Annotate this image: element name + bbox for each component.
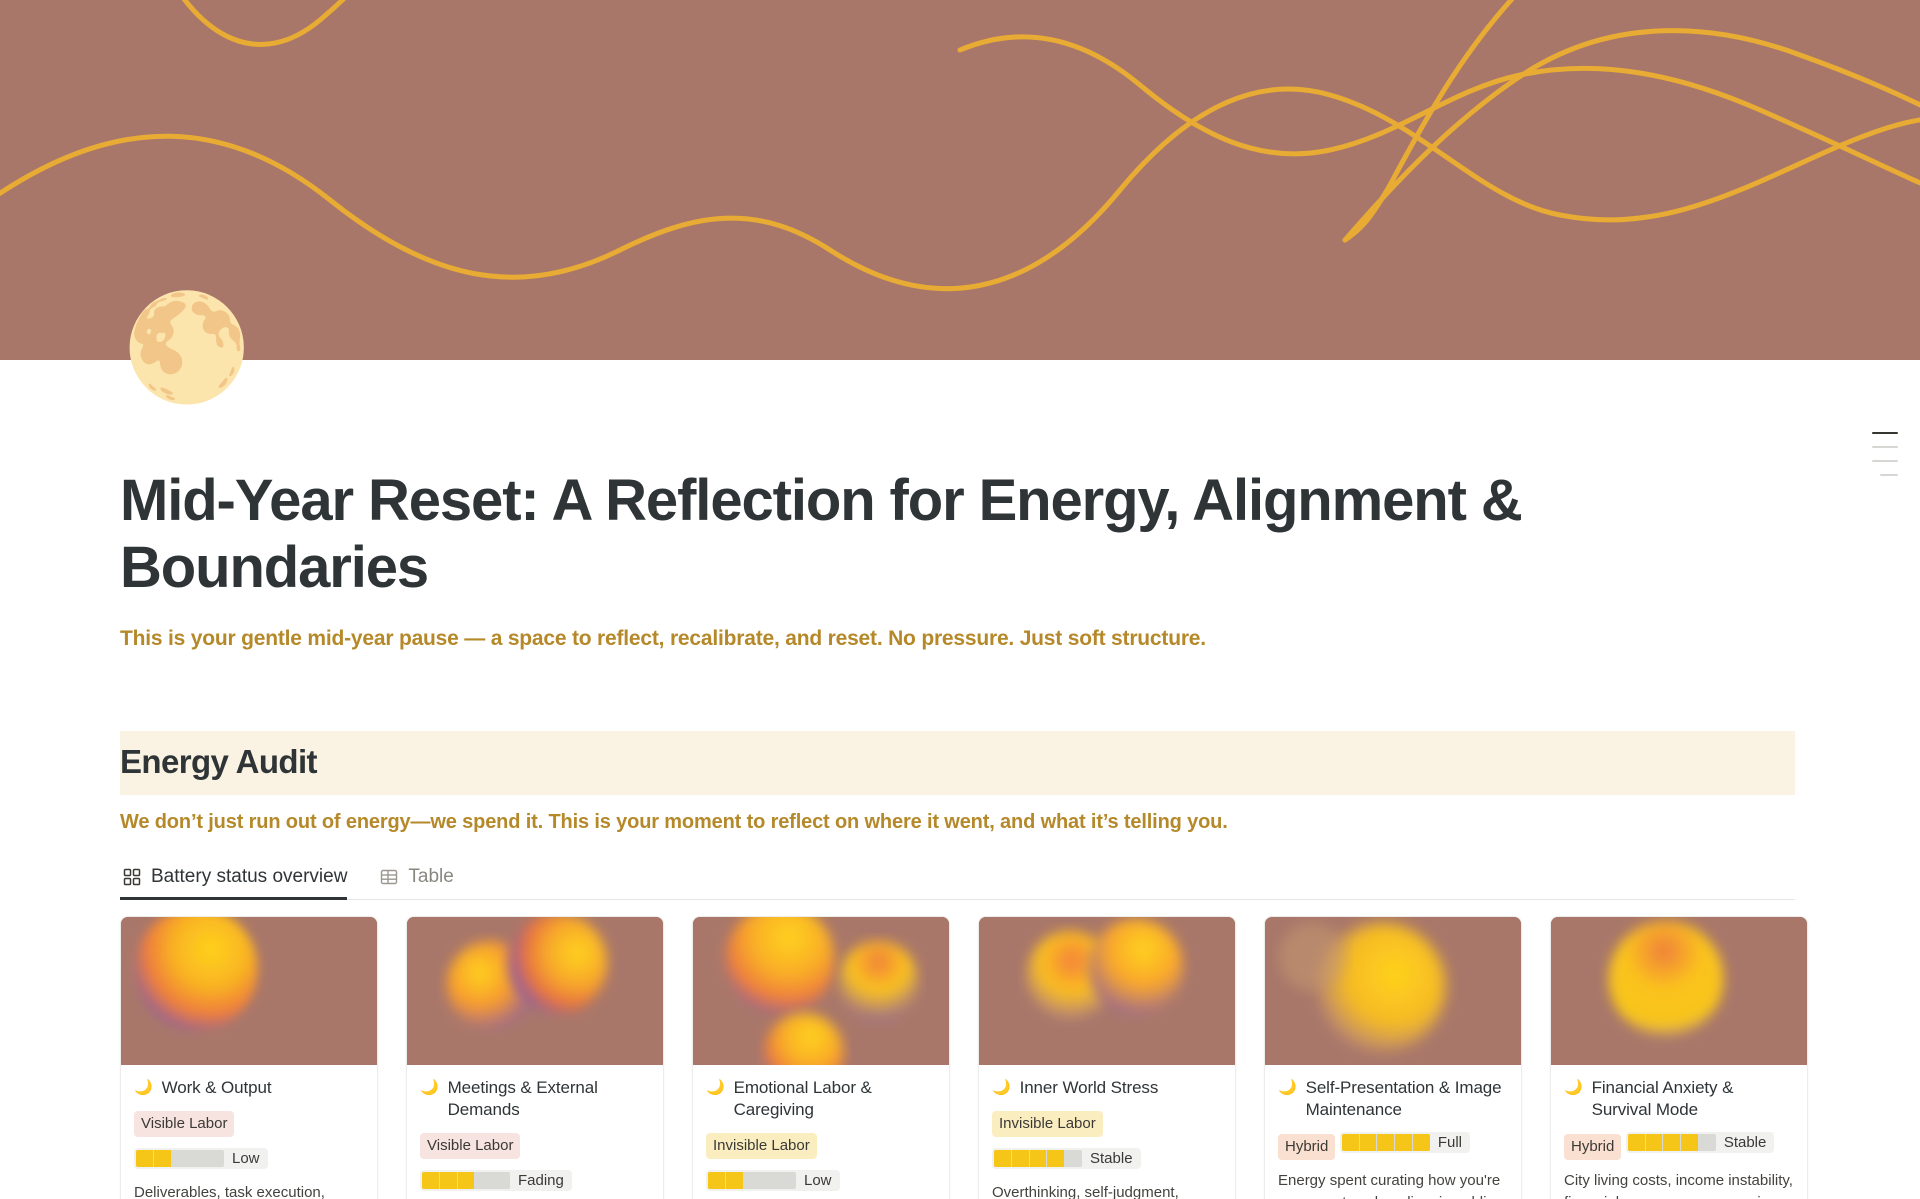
- battery-meter: [1342, 1134, 1430, 1151]
- tab-label: Battery status overview: [151, 866, 347, 888]
- abstract-gradient-art: [979, 917, 1235, 1065]
- tab-battery-status-overview[interactable]: Battery status overview: [120, 856, 359, 899]
- labor-type-tag: Invisible Labor: [706, 1133, 817, 1159]
- card-title: Inner World Stress: [1020, 1077, 1159, 1099]
- battery-status: Fading: [420, 1170, 572, 1191]
- battery-meter: [422, 1172, 510, 1189]
- crescent-moon-icon: 🌙: [420, 1077, 439, 1099]
- cover-wave-art: [0, 0, 1920, 360]
- card-title-row: 🌙 Meetings & External Demands: [420, 1077, 650, 1121]
- card-title: Meetings & External Demands: [448, 1077, 650, 1121]
- battery-meter: [136, 1150, 224, 1167]
- database-view-tabs: Battery status overview Table: [120, 856, 1795, 900]
- card-title-row: 🌙 Self-Presentation & Image Maintenance: [1278, 1077, 1508, 1121]
- card-cover-image: [121, 917, 377, 1065]
- gallery-card[interactable]: 🌙 Inner World Stress Invisible Labor Sta…: [978, 916, 1236, 1199]
- gallery-card[interactable]: 🌙 Self-Presentation & Image Maintenance …: [1264, 916, 1522, 1199]
- section-caption: We don’t just run out of energy—we spend…: [120, 811, 1820, 834]
- battery-label: Low: [804, 1172, 832, 1189]
- abstract-gradient-art: [407, 917, 663, 1065]
- gallery-card[interactable]: 🌙 Emotional Labor & Caregiving Invisible…: [692, 916, 950, 1199]
- battery-label: Fading: [518, 1172, 564, 1189]
- page-subtitle: This is your gentle mid-year pause — a s…: [120, 627, 1820, 651]
- full-moon-icon: 🌕: [122, 292, 234, 404]
- labor-type-tag: Invisible Labor: [992, 1111, 1103, 1137]
- card-cover-image: [693, 917, 949, 1065]
- card-title-row: 🌙 Inner World Stress: [992, 1077, 1222, 1099]
- page-cover-banner: [0, 0, 1920, 360]
- labor-type-tag: Hybrid: [1564, 1134, 1621, 1160]
- card-description: Deliverables, task execution, performanc…: [134, 1182, 364, 1199]
- battery-label: Stable: [1090, 1150, 1133, 1167]
- tab-label: Table: [408, 866, 453, 888]
- battery-status: Full: [1340, 1132, 1470, 1153]
- toc-line-2[interactable]: [1872, 446, 1898, 448]
- card-title: Financial Anxiety & Survival Mode: [1592, 1077, 1794, 1121]
- card-title: Self-Presentation & Image Maintenance: [1306, 1077, 1508, 1121]
- page-content: Mid-Year Reset: A Reflection for Energy,…: [0, 468, 1920, 1199]
- battery-label: Full: [1438, 1134, 1462, 1151]
- crescent-moon-icon: 🌙: [1564, 1077, 1583, 1099]
- battery-label: Stable: [1724, 1134, 1767, 1151]
- battery-status: Stable: [992, 1148, 1141, 1169]
- gallery-card[interactable]: 🌙 Meetings & External Demands Visible La…: [406, 916, 664, 1199]
- card-cover-image: [1265, 917, 1521, 1065]
- gallery-card[interactable]: 🌙 Financial Anxiety & Survival Mode Hybr…: [1550, 916, 1808, 1199]
- card-cover-image: [979, 917, 1235, 1065]
- abstract-gradient-art: [1265, 917, 1521, 1065]
- crescent-moon-icon: 🌙: [706, 1077, 725, 1099]
- labor-type-tag: Visible Labor: [420, 1133, 520, 1159]
- tab-table[interactable]: Table: [377, 856, 465, 899]
- section-heading-band: Energy Audit: [120, 731, 1795, 794]
- crescent-moon-icon: 🌙: [1278, 1077, 1297, 1099]
- gallery-grid-icon: [122, 867, 142, 887]
- battery-meter: [708, 1172, 796, 1189]
- crescent-moon-icon: 🌙: [992, 1077, 1011, 1099]
- card-description: Overthinking, self-judgment, imposter sy…: [992, 1182, 1222, 1199]
- battery-status: Low: [706, 1170, 840, 1191]
- battery-label: Low: [232, 1150, 260, 1167]
- card-title: Emotional Labor & Caregiving: [734, 1077, 936, 1121]
- crescent-moon-icon: 🌙: [134, 1077, 153, 1099]
- labor-type-tag: Visible Labor: [134, 1111, 234, 1137]
- card-cover-image: [407, 917, 663, 1065]
- card-title-row: 🌙 Financial Anxiety & Survival Mode: [1564, 1077, 1794, 1121]
- battery-status: Stable: [1626, 1132, 1775, 1153]
- toc-line-1[interactable]: [1872, 432, 1898, 434]
- card-cover-image: [1551, 917, 1807, 1065]
- table-icon: [379, 867, 399, 887]
- card-title-row: 🌙 Emotional Labor & Caregiving: [706, 1077, 936, 1121]
- toc-line-3[interactable]: [1872, 460, 1898, 462]
- abstract-gradient-art: [1551, 917, 1807, 1065]
- card-description: Energy spent curating how you're seen — …: [1278, 1170, 1508, 1199]
- abstract-gradient-art: [693, 917, 949, 1065]
- card-title: Work & Output: [162, 1077, 272, 1099]
- abstract-gradient-art: [121, 917, 377, 1065]
- gallery-card[interactable]: 🌙 Work & Output Visible Labor Low Delive…: [120, 916, 378, 1199]
- labor-type-tag: Hybrid: [1278, 1134, 1335, 1160]
- battery-status: Low: [134, 1148, 268, 1169]
- card-description: City living costs, income instability, f…: [1564, 1170, 1794, 1199]
- card-title-row: 🌙 Work & Output: [134, 1077, 364, 1099]
- card-gallery: 🌙 Work & Output Visible Labor Low Delive…: [120, 916, 1820, 1199]
- section-heading-energy-audit: Energy Audit: [120, 741, 1795, 782]
- battery-meter: [1628, 1134, 1716, 1151]
- battery-meter: [994, 1150, 1082, 1167]
- page-title: Mid-Year Reset: A Reflection for Energy,…: [120, 468, 1820, 601]
